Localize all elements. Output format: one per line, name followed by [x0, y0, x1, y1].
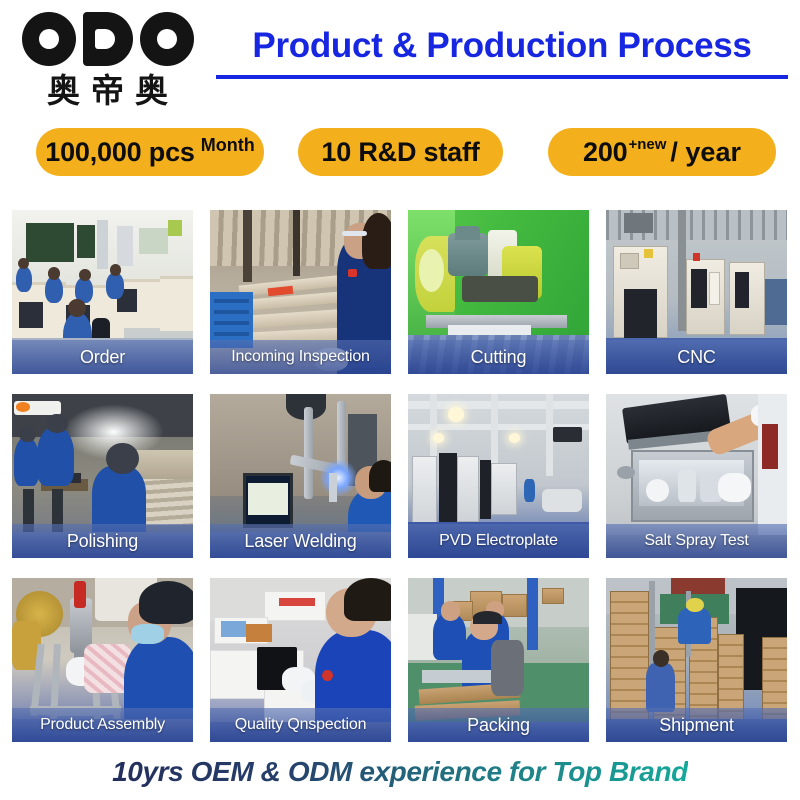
caption-bar: Shipment [606, 708, 787, 742]
logo-letter-d [83, 12, 133, 66]
process-cell-polishing[interactable]: Polishing [12, 394, 193, 558]
badge-monthly-capacity: 100,000 pcs Month [36, 128, 264, 176]
process-cell-product-assembly[interactable]: Product Assembly [12, 578, 193, 742]
caption-bar: Incoming Inspection [210, 340, 391, 374]
caption-label: CNC [677, 347, 715, 368]
caption-label: Salt Spray Test [644, 532, 748, 550]
caption-label: Cutting [471, 347, 527, 368]
logo-letter-o-right [140, 12, 194, 66]
footer-tagline: 10yrs OEM & ODM experience for Top Brand [112, 756, 688, 788]
badge-main-text: 100,000 pcs [45, 137, 194, 168]
caption-bar: Polishing [12, 524, 193, 558]
badge-new-products: 200 +new / year [548, 128, 776, 176]
caption-bar: Order [12, 340, 193, 374]
caption-label: Product Assembly [40, 716, 165, 734]
process-cell-quality-inspection[interactable]: Quality Qnspection [210, 578, 391, 742]
process-cell-packing[interactable]: Packing [408, 578, 589, 742]
title-underline [216, 75, 788, 79]
caption-bar: Product Assembly [12, 708, 193, 742]
company-logo: 奥帝奥 [10, 10, 205, 108]
stats-badge-row: 100,000 pcs Month 10 R&D staff 200 +new … [0, 128, 800, 182]
badge-main-text: 10 R&D staff [321, 137, 479, 168]
process-cell-cnc[interactable]: CNC [606, 210, 787, 374]
logo-chinese-name: 奥帝奥 [10, 72, 205, 110]
caption-bar: PVD Electroplate [408, 524, 589, 558]
caption-bar: Cutting [408, 340, 589, 374]
page-title: Product & Production Process [212, 20, 792, 72]
page-title-wrap: Product & Production Process [212, 20, 792, 79]
page-root: 奥帝奥 Product & Production Process 100,000… [0, 0, 800, 800]
caption-label: Incoming Inspection [231, 348, 370, 366]
process-cell-order[interactable]: Order [12, 210, 193, 374]
process-photo-grid: Order [12, 210, 788, 742]
caption-bar: Salt Spray Test [606, 524, 787, 558]
process-cell-cutting[interactable]: Cutting [408, 210, 589, 374]
header: 奥帝奥 Product & Production Process [0, 0, 800, 118]
process-cell-pvd-electroplate[interactable]: PVD Electroplate [408, 394, 589, 558]
badge-tail-text: / year [670, 137, 741, 168]
process-cell-laser-welding[interactable]: Laser Welding [210, 394, 391, 558]
caption-label: Quality Qnspection [235, 716, 367, 734]
caption-bar: Laser Welding [210, 524, 391, 558]
caption-bar: CNC [606, 340, 787, 374]
caption-label: Polishing [67, 531, 138, 552]
badge-superscript: +new [628, 136, 666, 153]
badge-main-text: 200 [583, 137, 627, 168]
process-cell-salt-spray-test[interactable]: Salt Spray Test [606, 394, 787, 558]
badge-superscript: Month [201, 135, 255, 156]
logo-wordmark-odo [10, 10, 205, 68]
caption-label: PVD Electroplate [439, 532, 558, 550]
caption-label: Laser Welding [244, 531, 356, 552]
caption-label: Shipment [659, 715, 733, 736]
process-cell-shipment[interactable]: Shipment [606, 578, 787, 742]
process-cell-incoming-inspection[interactable]: Incoming Inspection [210, 210, 391, 374]
footer: 10yrs OEM & ODM experience for Top Brand [0, 748, 800, 796]
caption-label: Order [80, 347, 125, 368]
caption-bar: Packing [408, 708, 589, 742]
caption-bar: Quality Qnspection [210, 708, 391, 742]
logo-letter-o-left [22, 12, 76, 66]
caption-label: Packing [467, 715, 530, 736]
badge-rd-staff: 10 R&D staff [298, 128, 503, 176]
